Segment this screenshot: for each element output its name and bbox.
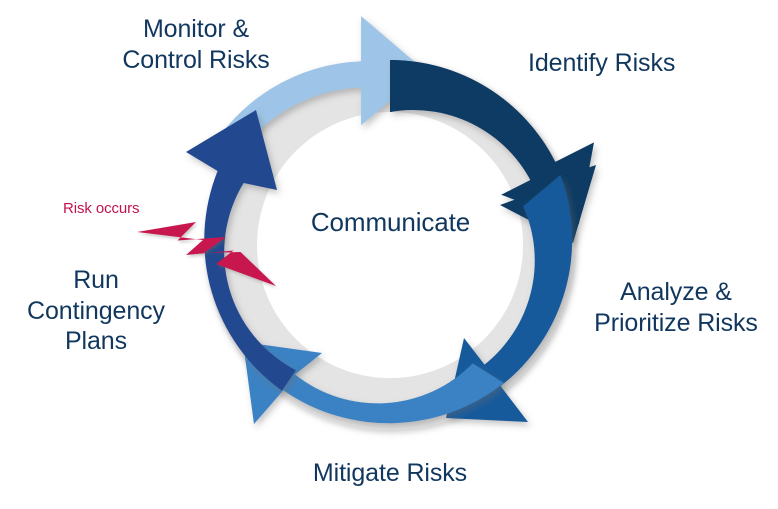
step-label-monitor-control-risks: Monitor & Control Risks: [96, 14, 296, 75]
step-label-analyze-prioritize-risks: Analyze & Prioritize Risks: [574, 277, 778, 338]
risk-occurs-label: Risk occurs: [63, 200, 173, 218]
step-label-mitigate-risks: Mitigate Risks: [280, 458, 500, 489]
step-label-run-contingency-plans: Run Contingency Plans: [6, 265, 186, 357]
risk-cycle-diagram: Monitor & Control Risks Identify Risks A…: [0, 0, 778, 509]
step-label-identify-risks: Identify Risks: [528, 48, 738, 79]
center-label-communicate: Communicate: [283, 207, 498, 239]
inner-disc: [257, 112, 523, 378]
